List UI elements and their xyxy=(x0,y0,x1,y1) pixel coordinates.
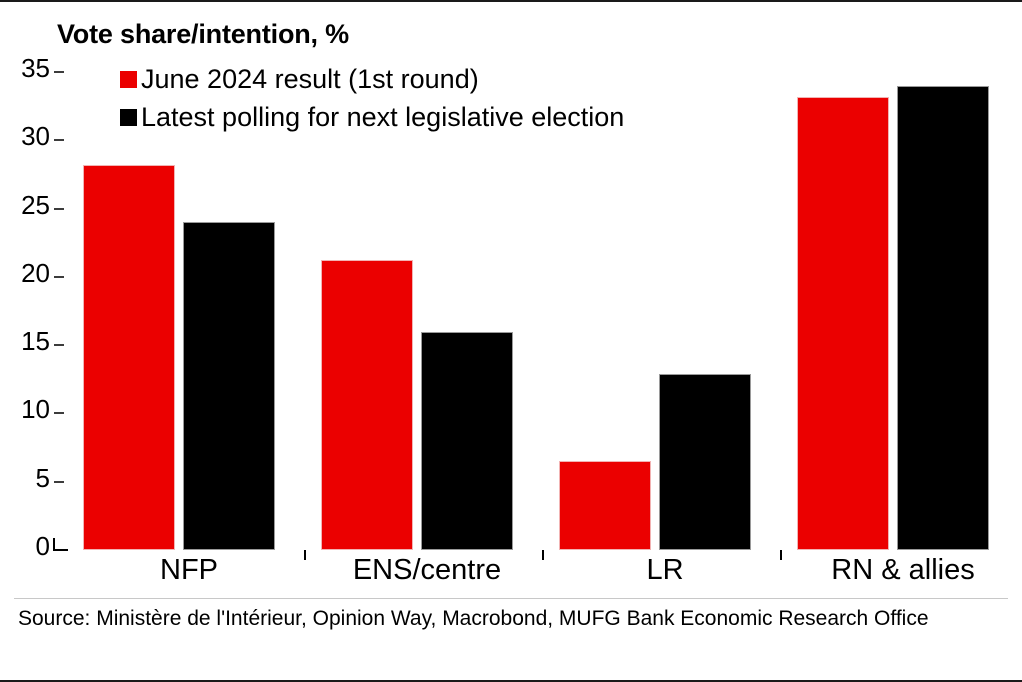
source-divider xyxy=(14,598,1008,599)
chart-figure: Vote share/intention, % June 2024 result… xyxy=(0,0,1022,682)
x-axis-category-label: RN & allies xyxy=(784,556,1022,585)
y-axis-tick-label: 30 xyxy=(21,123,50,149)
bar-result xyxy=(83,165,175,550)
y-axis-tick-mark-icon xyxy=(54,276,64,278)
source-note: Source: Ministère de l'Intérieur, Opinio… xyxy=(18,606,993,633)
page-title: Vote share/intention, % xyxy=(57,19,349,50)
y-axis-tick-mark-icon xyxy=(54,139,64,141)
x-axis-category-label: NFP xyxy=(70,556,308,585)
y-axis-tick-mark-icon xyxy=(54,208,64,210)
bar-result xyxy=(559,461,651,550)
bar-polling xyxy=(659,374,751,550)
bar-polling xyxy=(421,332,513,551)
y-axis-tick-label: 25 xyxy=(21,192,50,218)
axis-origin-corner xyxy=(53,538,68,551)
bar-result xyxy=(321,260,413,550)
bar-result xyxy=(797,97,889,550)
y-axis-tick-label: 20 xyxy=(21,260,50,286)
y-axis-tick-label: 15 xyxy=(21,328,50,354)
x-axis-category-label: ENS/centre xyxy=(308,556,546,585)
plot-area: 05101520253035 NFPENS/centreLRRN & allie… xyxy=(70,72,1022,550)
y-axis-tick-mark-icon xyxy=(54,344,64,346)
y-axis-tick-mark-icon xyxy=(54,71,64,73)
bar-polling xyxy=(183,222,275,550)
y-axis-tick-mark-icon xyxy=(54,481,64,483)
y-axis-tick-label: 10 xyxy=(21,396,50,422)
bar-polling xyxy=(897,86,989,550)
y-axis-tick-mark-icon xyxy=(54,412,64,414)
y-axis-tick-label: 35 xyxy=(21,55,50,81)
y-axis-tick-label: 5 xyxy=(36,465,50,491)
y-axis-tick-label: 0 xyxy=(36,533,50,559)
x-axis-category-label: LR xyxy=(546,556,784,585)
